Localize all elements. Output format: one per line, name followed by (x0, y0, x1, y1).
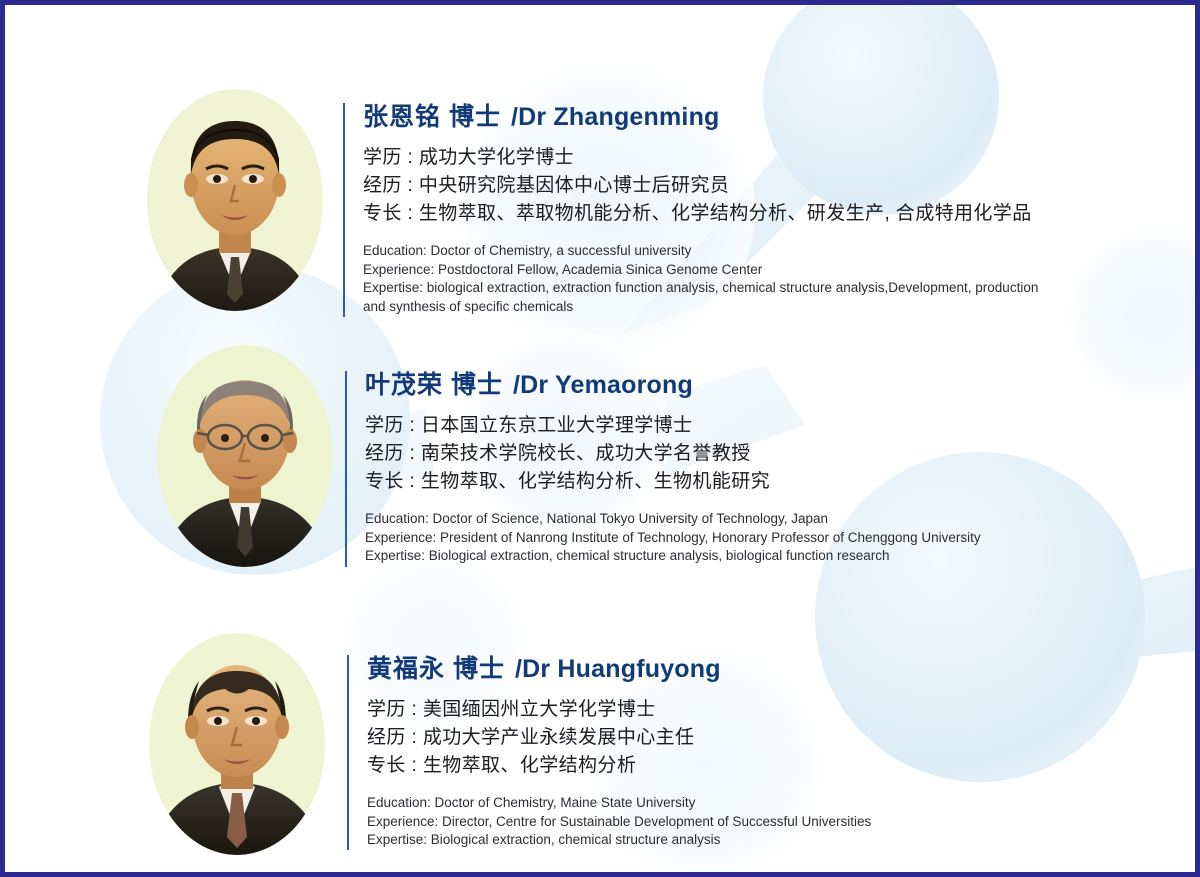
profile-en-education-2: Education: Doctor of Science, National T… (365, 510, 981, 529)
profile-cn-block-3: 学历 : 美国缅因州立大学化学博士 经历 : 成功大学产业永续发展中心主任 专长… (367, 696, 871, 780)
profile-cn-experience-1: 经历 : 中央研究院基因体中心博士后研究员 (363, 172, 1053, 200)
portrait-container-2 (145, 345, 345, 567)
profile-cn-expertise-2: 专长 : 生物萃取、化学结构分析、生物机能研究 (365, 468, 981, 496)
portrait-illustration-2 (157, 345, 333, 567)
profiles-content: 张恩铭 博士/Dr Zhangenming 学历 : 成功大学化学博士 经历 :… (5, 5, 1195, 872)
profile-en-education-3: Education: Doctor of Chemistry, Maine St… (367, 794, 871, 813)
profile-name-cn-3: 黄福永 博士 (367, 655, 505, 683)
profile-name-cn-2: 叶茂荣 博士 (365, 371, 503, 399)
portrait-huangfuyong (149, 633, 325, 855)
profile-cn-experience-3: 经历 : 成功大学产业永续发展中心主任 (367, 724, 871, 752)
profile-card-2: 叶茂荣 博士/Dr Yemaorong 学历 : 日本国立东京工业大学理学博士 … (145, 345, 981, 567)
profile-en-experience-1: Experience: Postdoctoral Fellow, Academi… (363, 261, 1053, 280)
profile-en-block-3: Education: Doctor of Chemistry, Maine St… (367, 794, 871, 850)
profiles-page: 张恩铭 博士/Dr Zhangenming 学历 : 成功大学化学博士 经历 :… (0, 0, 1200, 877)
portrait-illustration-1 (147, 89, 323, 311)
portrait-illustration-3 (149, 633, 325, 855)
portrait-zhangenming (147, 89, 323, 311)
profile-body-1: 张恩铭 博士/Dr Zhangenming 学历 : 成功大学化学博士 经历 :… (343, 103, 1053, 317)
profile-cn-block-1: 学历 : 成功大学化学博士 经历 : 中央研究院基因体中心博士后研究员 专长 :… (363, 144, 1053, 228)
profile-cn-expertise-1: 专长 : 生物萃取、萃取物机能分析、化学结构分析、研发生产, 合成特用化学品 (363, 200, 1053, 228)
profile-cn-education-2: 学历 : 日本国立东京工业大学理学博士 (365, 412, 981, 440)
profile-body-2: 叶茂荣 博士/Dr Yemaorong 学历 : 日本国立东京工业大学理学博士 … (345, 371, 981, 567)
profile-card-1: 张恩铭 博士/Dr Zhangenming 学历 : 成功大学化学博士 经历 :… (135, 89, 1053, 317)
profile-name-en-1: /Dr Zhangenming (511, 103, 720, 131)
profile-card-3: 黄福永 博士/Dr Huangfuyong 学历 : 美国缅因州立大学化学博士 … (137, 633, 871, 855)
profile-en-expertise-1: Expertise: biological extraction, extrac… (363, 279, 1053, 316)
profile-cn-education-1: 学历 : 成功大学化学博士 (363, 144, 1053, 172)
profile-en-block-2: Education: Doctor of Science, National T… (365, 510, 981, 566)
profile-en-experience-3: Experience: Director, Centre for Sustain… (367, 813, 871, 832)
profile-cn-expertise-3: 专长 : 生物萃取、化学结构分析 (367, 752, 871, 780)
profile-name-2: 叶茂荣 博士/Dr Yemaorong (365, 371, 981, 400)
profile-name-cn-1: 张恩铭 博士 (363, 103, 501, 131)
profile-en-expertise-3: Expertise: Biological extraction, chemic… (367, 831, 871, 850)
profile-en-expertise-2: Expertise: Biological extraction, chemic… (365, 547, 981, 566)
profile-body-3: 黄福永 博士/Dr Huangfuyong 学历 : 美国缅因州立大学化学博士 … (347, 655, 871, 850)
portrait-yemaorong (157, 345, 333, 567)
profile-cn-education-3: 学历 : 美国缅因州立大学化学博士 (367, 696, 871, 724)
profile-name-3: 黄福永 博士/Dr Huangfuyong (367, 655, 871, 684)
profile-name-1: 张恩铭 博士/Dr Zhangenming (363, 103, 1053, 132)
profile-cn-experience-2: 经历 : 南荣技术学院校长、成功大学名誉教授 (365, 440, 981, 468)
profile-en-block-1: Education: Doctor of Chemistry, a succes… (363, 242, 1053, 317)
profile-cn-block-2: 学历 : 日本国立东京工业大学理学博士 经历 : 南荣技术学院校长、成功大学名誉… (365, 412, 981, 496)
profile-name-en-3: /Dr Huangfuyong (515, 655, 721, 683)
profile-en-experience-2: Experience: President of Nanrong Institu… (365, 529, 981, 548)
portrait-container-3 (137, 633, 337, 855)
profile-en-education-1: Education: Doctor of Chemistry, a succes… (363, 242, 1053, 261)
profile-name-en-2: /Dr Yemaorong (513, 371, 693, 399)
portrait-container-1 (135, 89, 335, 311)
